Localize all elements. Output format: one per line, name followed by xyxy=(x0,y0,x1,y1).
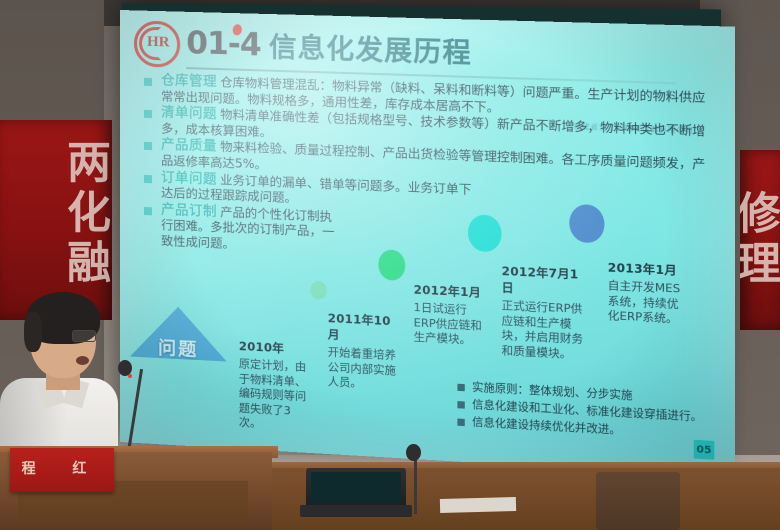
hr-logo-icon: HR xyxy=(134,20,180,67)
timeline-date: 2011年10月 xyxy=(328,310,400,346)
projected-slide: HR 01-4 信息化发展历程 福建省测江阳精密仪器有限公司 仓库管理仓库物料管… xyxy=(120,10,735,478)
bullet-heading: 产品质量 xyxy=(161,138,217,155)
bullet-square-icon xyxy=(144,207,152,215)
timeline-description: 开始着重培养公司内部实施人员。 xyxy=(328,345,400,393)
laptop-base xyxy=(300,505,412,517)
chair-back xyxy=(596,472,680,530)
timeline-date: 2013年1月 xyxy=(608,259,685,279)
banner-right: 修理 xyxy=(740,150,780,330)
papers-on-table xyxy=(440,497,516,513)
nameplate-text: 程 红 xyxy=(10,458,114,478)
speaker-sideburn xyxy=(24,312,42,352)
bullet-square-icon xyxy=(457,384,464,392)
hr-logo-text: HR xyxy=(147,34,170,52)
timeline-entry-2011: 2011年10月 开始着重培养公司内部实施人员。 xyxy=(328,310,400,394)
bullet-square-icon xyxy=(457,401,464,409)
banner-left-text: 两化融 xyxy=(61,120,106,314)
timeline-description: 正式运行ERP供应链和生产模块，并启用财务和质量模块。 xyxy=(502,299,587,363)
bullet-square-icon xyxy=(457,419,464,427)
timeline-dot xyxy=(378,249,405,281)
conference-room-photo: 两化融 修理 HR 01-4 信息化发展历程 福建省测江阳精密仪器有限公司 仓库… xyxy=(0,0,780,530)
timeline-date: 2012年1月 xyxy=(414,281,489,301)
bullet-square-icon xyxy=(144,174,152,182)
timeline-dot xyxy=(468,214,502,252)
timeline-entry-2012-01: 2012年1月 1日试运行ERP供应链和生产模块。 xyxy=(414,281,489,349)
table-microphone-icon xyxy=(406,444,421,461)
bullet-square-icon xyxy=(144,78,152,86)
page-title: 信息化发展历程 xyxy=(269,34,472,67)
timeline-dot xyxy=(569,204,604,244)
problem-bullet-list: 仓库管理仓库物料管理混乱：物料异常（缺料、呆料和断料等）问题严重。生产计划的物料… xyxy=(144,73,712,275)
timeline-dot xyxy=(310,281,326,300)
timeline-description: 原定计划，由于物料清单、编码规则等问题失败了3次。 xyxy=(239,357,312,434)
bullet-square-icon xyxy=(144,142,152,150)
speaker-mouth xyxy=(76,356,89,365)
banner-right-text: 修理 xyxy=(740,150,776,330)
eyeglasses-icon xyxy=(72,330,96,342)
bullet-heading: 清单问题 xyxy=(161,106,217,123)
slide-title: 01-4 信息化发展历程 xyxy=(186,28,471,68)
timeline-entry-2013: 2013年1月 自主开发MES系统，持续优化ERP系统。 xyxy=(608,259,685,327)
bullet-heading: 订单问题 xyxy=(161,170,217,187)
microphone-led-icon xyxy=(128,374,132,378)
timeline-entry-2012-07: 2012年7月1日 正式运行ERP供应链和生产模块，并启用财务和质量模块。 xyxy=(502,263,587,363)
timeline-date: 2010年 xyxy=(239,338,312,358)
table-microphone-stand xyxy=(414,452,417,514)
page-number-badge: 05 xyxy=(694,440,715,460)
bullet-square-icon xyxy=(144,110,152,118)
laptop-screen xyxy=(311,472,401,503)
bullet-heading: 仓库管理 xyxy=(161,73,217,90)
timeline-date: 2012年7月1日 xyxy=(502,263,587,300)
list-item: 产品订制产品的个性化订制执行困难。多批次的订制产品，一致性成问题。 xyxy=(144,202,337,257)
timeline-entry-2010: 2010年 原定计划，由于物料清单、编码规则等问题失败了3次。 xyxy=(239,338,312,434)
timeline-description: 1日试运行ERP供应链和生产模块。 xyxy=(414,301,489,349)
slide-title-number: 01-4 xyxy=(186,28,261,61)
summary-bullet-list: 实施原则：整体规划、分步实施 信息化建设和工业化、标准化建设穿插进行。 信息化建… xyxy=(457,380,729,447)
problem-label: 问题 xyxy=(142,333,214,363)
banner-left: 两化融 xyxy=(0,120,112,320)
timeline-description: 自主开发MES系统，持续优化ERP系统。 xyxy=(608,279,685,328)
